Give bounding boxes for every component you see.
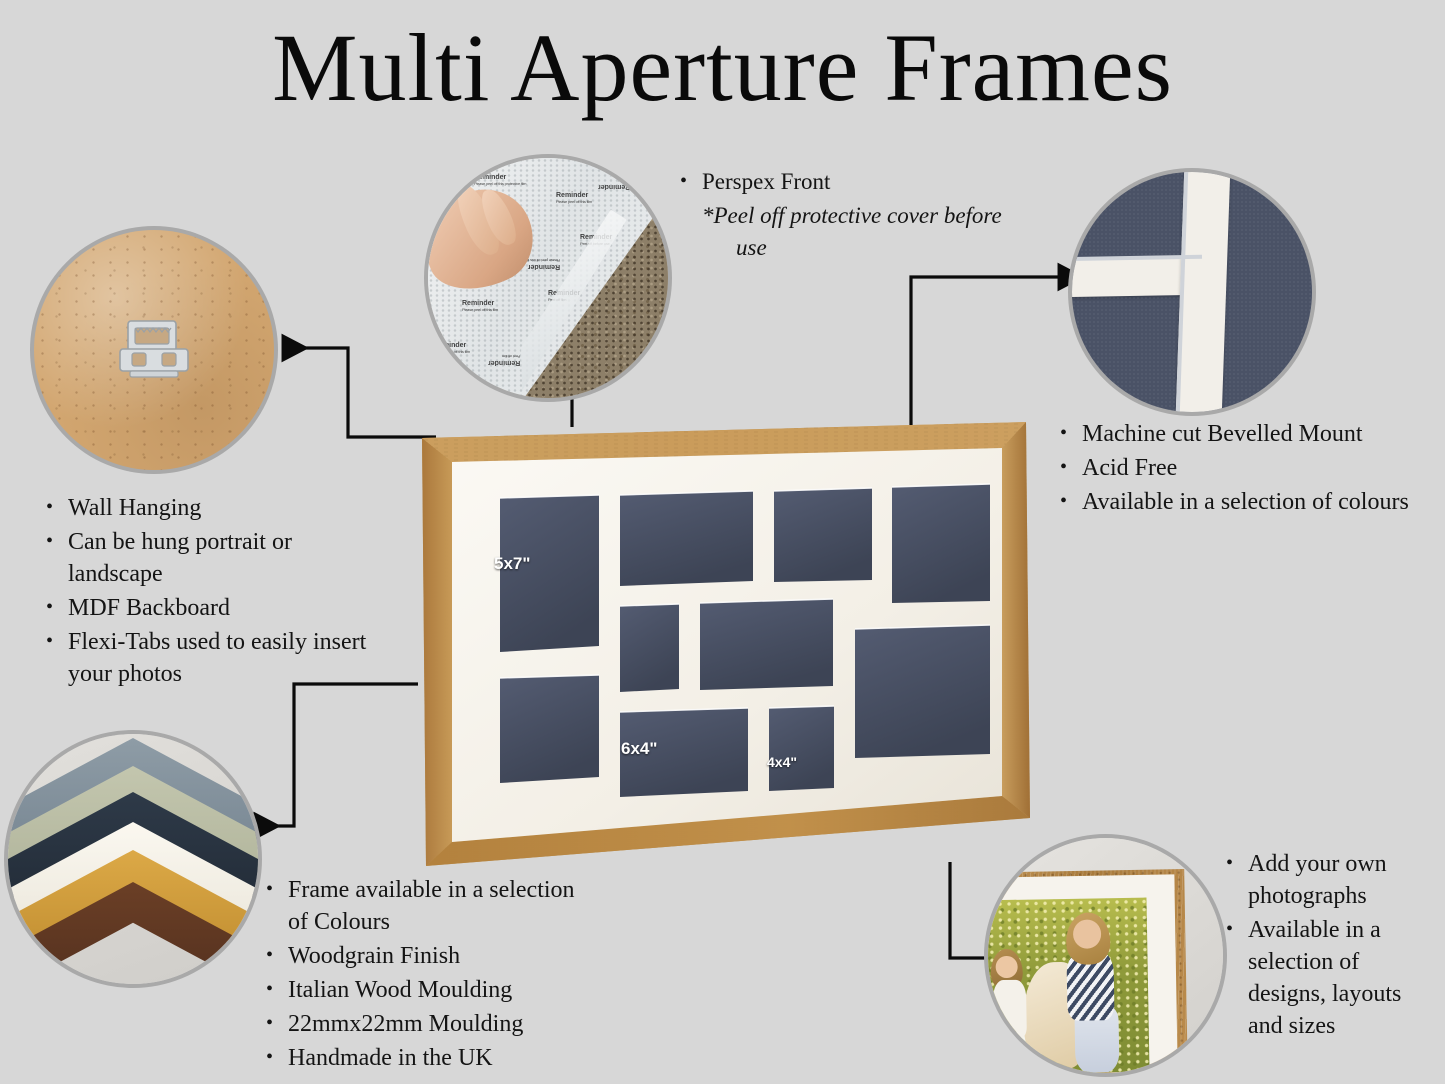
aperture-mid-right — [855, 625, 990, 758]
list-item: Add your own photographs — [1222, 848, 1437, 912]
list-item: MDF Backboard — [42, 592, 382, 624]
list-item: Machine cut Bevelled Mount — [1056, 418, 1416, 450]
multi-aperture-photo-frame: 5x7" 6x4" 4x4" — [412, 414, 1040, 872]
list-item: Frame available in a selection of Colour… — [262, 874, 592, 938]
moulding-features: Frame available in a selection of Colour… — [262, 874, 592, 1076]
framed-family-photo — [988, 838, 1223, 1073]
flexi-tab-hanger-icon — [116, 319, 192, 381]
perspex-front-features: Perspex Front *Peel off protective cover… — [676, 166, 1026, 266]
frame-artwork — [412, 414, 1040, 872]
bevelled-mount-photo — [1072, 172, 1312, 412]
child-body — [992, 980, 1027, 1040]
list-item: Perspex Front — [676, 166, 1026, 198]
photograph — [988, 898, 1149, 1073]
list-item: Acid Free — [1056, 452, 1416, 484]
aperture-bottom-1 — [500, 675, 599, 783]
list-item: Can be hung portrait or landscape — [42, 526, 382, 590]
aperture-top-4 — [892, 484, 990, 603]
photograph-features: Add your own photographs Available in a … — [1222, 848, 1437, 1044]
perspex-peel-photo: ReminderPlease peel off this protective … — [428, 158, 668, 398]
list-item: Wall Hanging — [42, 492, 382, 524]
arrow-to-bevel — [911, 277, 1062, 436]
arrow-to-swatches — [258, 684, 418, 826]
mdf-backboard-photo — [34, 230, 274, 470]
aperture-label-5x7: 5x7" — [494, 554, 530, 574]
infographic-canvas: Multi Aperture Frames — [0, 0, 1445, 1084]
aperture-label-6x4: 6x4" — [621, 739, 657, 759]
list-item: Flexi-Tabs used to easily insert your ph… — [42, 626, 382, 690]
aperture-top-2 — [620, 491, 753, 586]
list-item: 22mmx22mm Moulding — [262, 1008, 592, 1040]
list-item: Italian Wood Moulding — [262, 974, 592, 1006]
mount-features: Machine cut Bevelled Mount Acid Free Ava… — [1056, 418, 1416, 520]
perspex-note: *Peel off protective cover before use — [702, 200, 1026, 264]
list-item: Available in a selection of colours — [1056, 486, 1416, 518]
wall-hanging-features: Wall Hanging Can be hung portrait or lan… — [42, 492, 382, 692]
aperture-mid-2 — [700, 599, 833, 690]
aperture-label-4x4: 4x4" — [767, 754, 797, 770]
list-item: Woodgrain Finish — [262, 940, 592, 972]
frame-colour-swatches-photo — [8, 734, 258, 984]
aperture-4x4 — [769, 706, 834, 791]
aperture-top-3 — [774, 488, 872, 582]
child-face — [995, 956, 1017, 979]
aperture-mid-1 — [620, 604, 679, 692]
list-item: Handmade in the UK — [262, 1042, 592, 1074]
list-item: Available in a selection of designs, lay… — [1222, 914, 1437, 1042]
